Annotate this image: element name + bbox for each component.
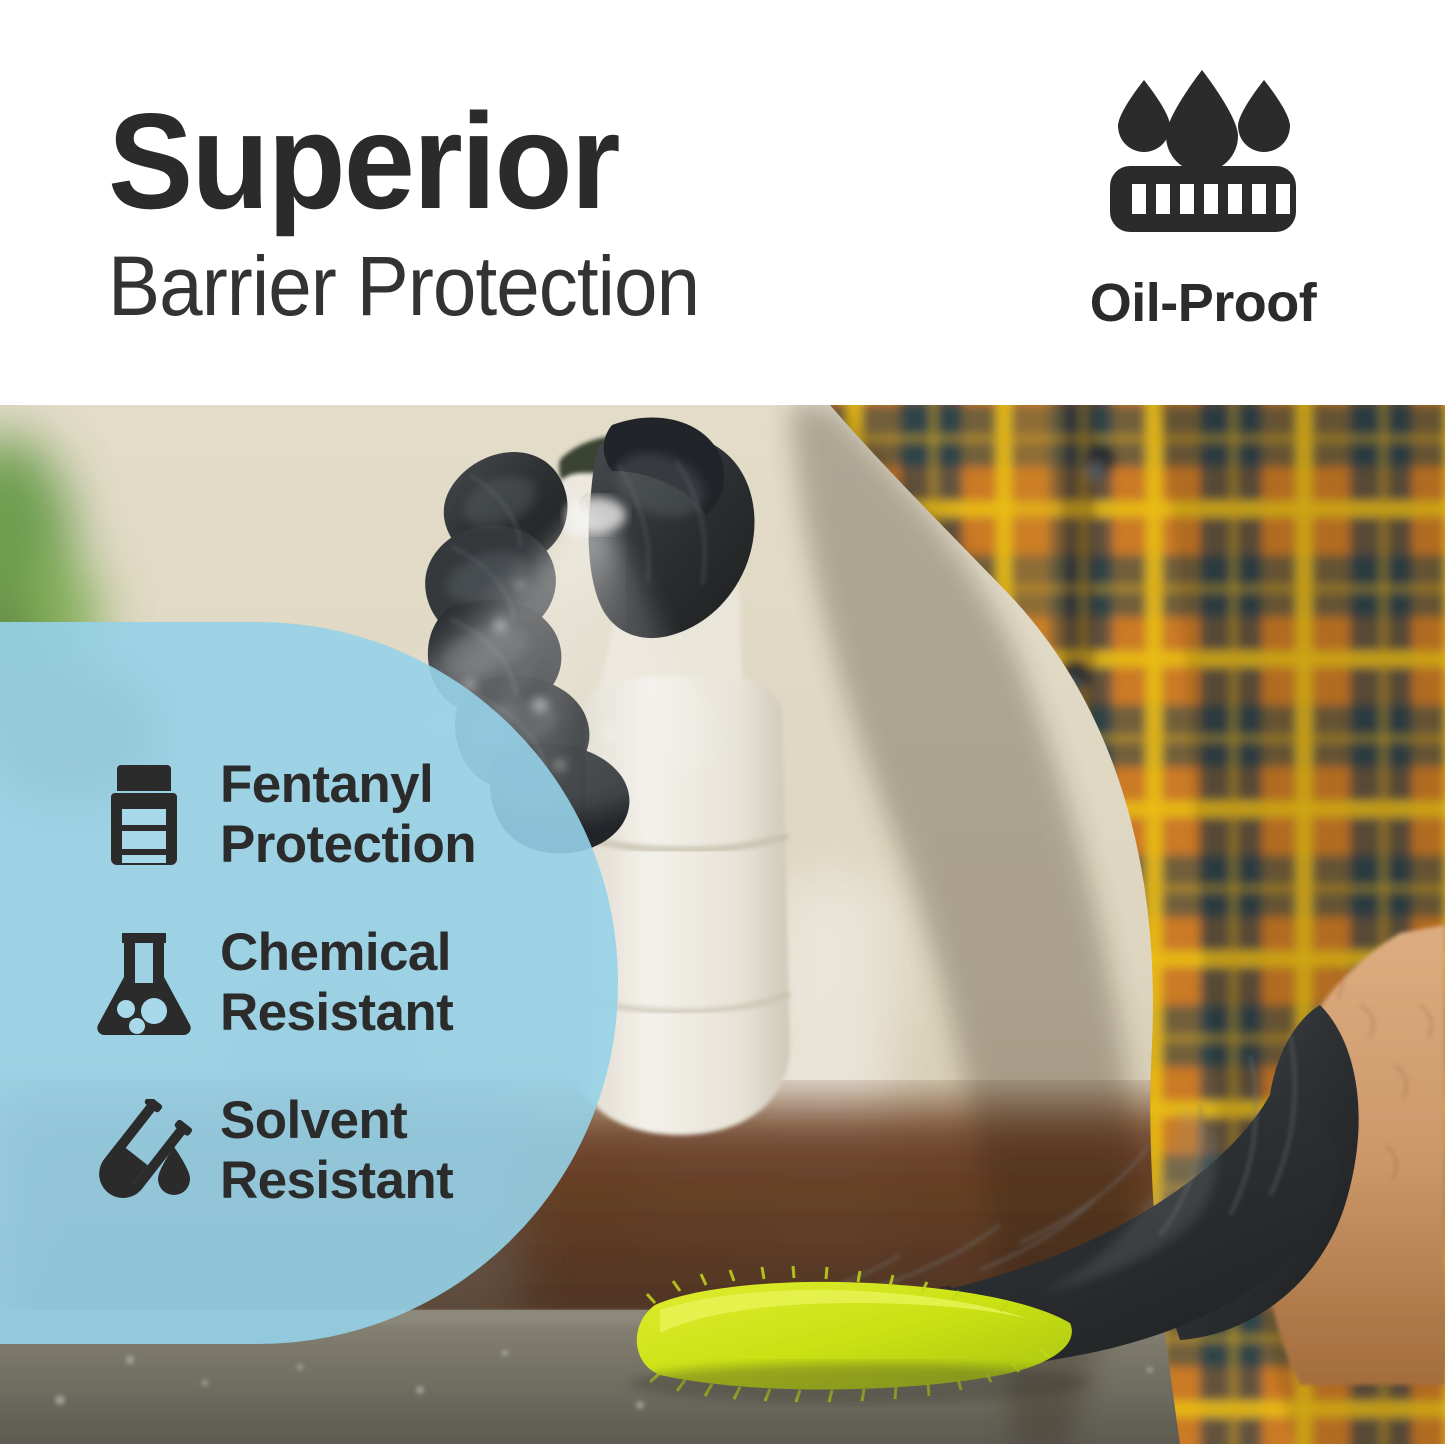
feature-label-fentanyl-protection: Fentanyl Protection [220,755,476,875]
feature-line2: Resistant [220,983,453,1043]
oil-droplets-on-fabric-icon [1088,70,1318,250]
feature-label-chemical-resistant: Chemical Resistant [220,923,453,1043]
product-feature-graphic: Superior Barrier Protection [0,0,1445,1444]
erlenmeyer-flask-icon [92,924,196,1042]
feature-line2: Protection [220,815,476,875]
feature-item-chemical-resistant: Chemical Resistant [92,923,560,1043]
badge-label: Oil-Proof [1090,272,1316,334]
feature-line1: Fentanyl [220,755,433,814]
feature-line1: Chemical [220,923,451,982]
test-tube-droplet-icon [92,1092,196,1210]
vial-icon [92,756,196,874]
oil-proof-badge: Oil-Proof [1053,70,1353,334]
feature-item-fentanyl-protection: Fentanyl Protection [92,755,560,875]
header-titles: Superior Barrier Protection [108,96,968,328]
feature-item-solvent-resistant: Solvent Resistant [92,1091,560,1211]
header-bar: Superior Barrier Protection [0,0,1445,405]
feature-label-solvent-resistant: Solvent Resistant [220,1091,453,1211]
page-title: Superior [108,96,916,228]
feature-line2: Resistant [220,1151,453,1211]
feature-line1: Solvent [220,1091,407,1150]
page-subtitle: Barrier Protection [108,244,908,328]
feature-list: Fentanyl Protection [0,622,560,1344]
